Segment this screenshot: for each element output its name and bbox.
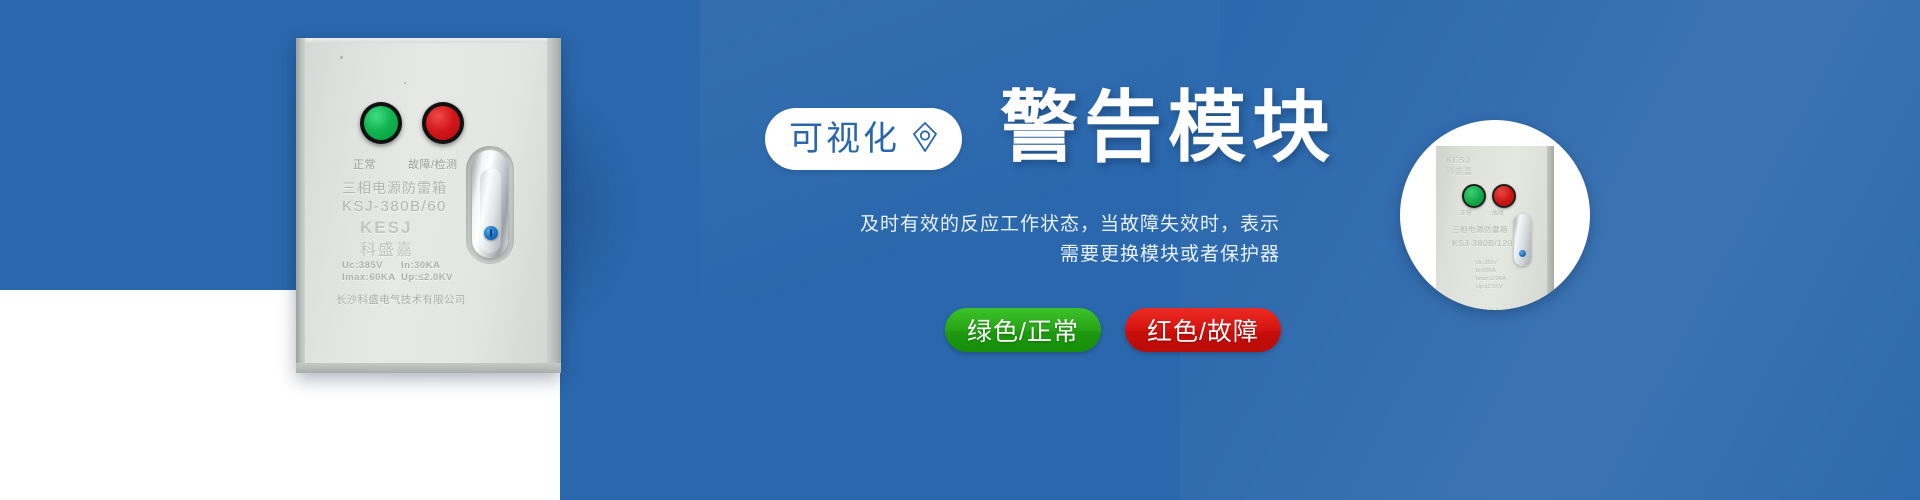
inset-lamp-label-fault: 故障 [1492, 208, 1504, 217]
inset-cabinet-edge [1547, 146, 1554, 310]
door-handle [472, 150, 508, 258]
product-photo-inset: KESJ 科盛嘉 正常 故障 三相电源防雷箱 KSJ-380B/120 Uc:3… [1400, 120, 1590, 310]
subtitle-line-1: 及时有效的反应工作状态，当故障失效时，表示 [620, 210, 1280, 240]
page-title: 警告模块 [1000, 88, 1336, 166]
inset-cabinet: KESJ 科盛嘉 正常 故障 三相电源防雷箱 KSJ-380B/120 Uc:3… [1436, 146, 1554, 310]
inset-lamp-label-normal: 正常 [1460, 208, 1472, 217]
panel-spec-in: In:30KA [401, 260, 440, 271]
panel-brand-latin: KESJ [360, 218, 412, 238]
inset-door-lock-keyhole-icon [1519, 250, 1526, 257]
subtitle-block: 及时有效的反应工作状态，当故障失效时，表示 需要更换模块或者保护器 [620, 210, 1280, 270]
inset-product-title: 三相电源防雷箱 [1452, 224, 1508, 235]
status-badge-normal: 绿色/正常 [945, 308, 1101, 352]
panel-spec-uc: Uc:385V [342, 260, 383, 271]
inset-indicator-lamp-green [1462, 184, 1486, 208]
panel-product-title: 三相电源防雷箱 [342, 178, 447, 198]
surge-protector-cabinet: 正常 故障/检测 三相电源防雷箱 KSJ-380B/60 KESJ 科盛嘉 Uc… [296, 38, 561, 373]
inset-indicator-lamp-red [1492, 184, 1516, 208]
visualization-pill: 可视化 [765, 108, 962, 170]
inset-spec-imax: Imax:120KA [1476, 276, 1506, 282]
cabinet-bottom-edge [296, 363, 561, 373]
product-photo-main: 正常 故障/检测 三相电源防雷箱 KSJ-380B/60 KESJ 科盛嘉 Uc… [240, 0, 680, 460]
inset-spec-up: Up:≤2.5KV [1476, 284, 1503, 290]
panel-company-name: 长沙科盛电气技术有限公司 [336, 292, 466, 307]
panel-spec-imax: Imax:60KA [342, 272, 396, 283]
indicator-lamp-red [422, 102, 464, 144]
inset-spec-in: In:60KA [1476, 268, 1496, 274]
inset-brand-chinese: 科盛嘉 [1446, 166, 1473, 177]
lamp-label-normal: 正常 [353, 156, 376, 172]
door-lock-keyhole-icon [484, 226, 498, 240]
promo-banner: 正常 故障/检测 三相电源防雷箱 KSJ-380B/60 KESJ 科盛嘉 Uc… [0, 0, 1920, 500]
panel-model-number: KSJ-380B/60 [342, 198, 447, 215]
cabinet-speck [340, 56, 343, 59]
inset-model-number: KSJ-380B/120 [1452, 238, 1513, 248]
cabinet-top-edge [296, 38, 561, 43]
visualization-pill-label: 可视化 [789, 122, 900, 156]
inset-door-handle [1514, 214, 1531, 266]
location-pin-icon [912, 122, 938, 157]
indicator-lamp-green [360, 102, 402, 144]
cabinet-left-edge [296, 38, 305, 373]
inset-company-name: 长沙科盛电气技术有限公司 [1448, 306, 1526, 310]
cabinet-right-edge [547, 38, 561, 373]
cabinet-speck [404, 82, 406, 84]
panel-brand-chinese: 科盛嘉 [360, 236, 414, 260]
inset-spec-uc: Uc:385V [1476, 260, 1497, 266]
inset-brand-latin: KESJ [1446, 156, 1471, 165]
lamp-label-fault: 故障/检测 [408, 156, 458, 172]
door-handle-grip [480, 168, 501, 253]
panel-spec-up: Up:≤2.0KV [401, 272, 453, 283]
subtitle-line-2: 需要更换模块或者保护器 [620, 240, 1280, 270]
status-badge-fault: 红色/故障 [1125, 308, 1281, 352]
status-badge-group: 绿色/正常 红色/故障 [945, 308, 1281, 352]
